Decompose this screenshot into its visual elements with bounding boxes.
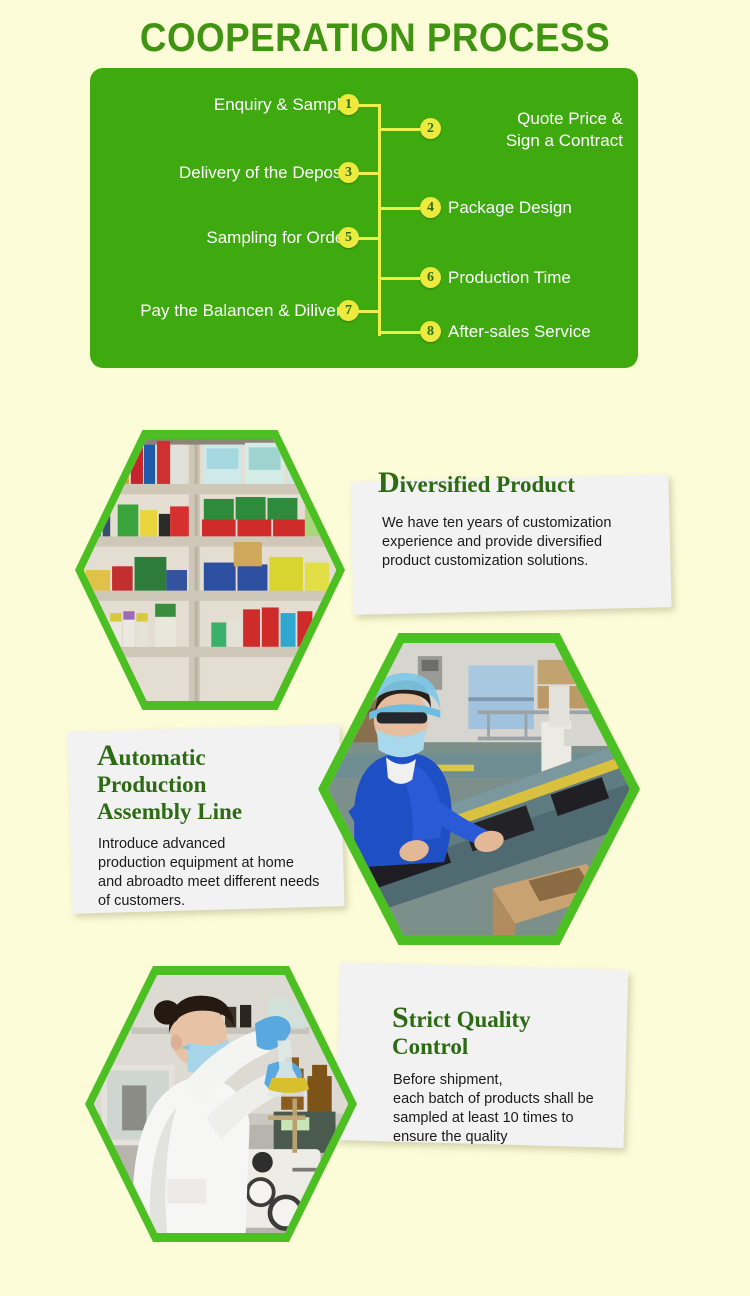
hexagon-frame-3 [85,966,357,1242]
hexagon-photo-3 [94,975,349,1233]
process-step-number-3: 3 [338,162,359,183]
feature-heading-1: Diversified Product [378,469,678,498]
process-arm-5 [358,237,381,240]
feature-image-3 [85,966,357,1242]
feature-heading-rest-3: trict Quality Control [392,1007,531,1059]
process-step-number-8: 8 [420,321,441,342]
process-connector-stem [378,104,381,336]
process-step-label-4: Package Design [448,197,648,219]
feature-heading-rest-1: iversified Product [400,472,575,497]
process-arm-7 [358,310,381,313]
process-step-number-6: 6 [420,267,441,288]
feature-heading-3: Strict Quality Control [392,1004,662,1060]
feature-image-2 [318,633,640,945]
process-step-label-8: After-sales Service [448,321,648,343]
hexagon-frame-2 [318,633,640,945]
process-step-label-1: Enquiry & Sample [130,94,350,116]
process-step-label-7: Pay the Balancen & Dilivery [80,300,350,322]
process-arm-6 [381,277,420,280]
process-step-number-1: 1 [338,94,359,115]
process-step-label-6: Production Time [448,267,648,289]
process-step-label-5: Sampling for Order [100,227,350,249]
process-step-label-2: Quote Price & Sign a Contract [448,108,623,152]
feature-image-1 [75,430,345,710]
hexagon-frame-1 [75,430,345,710]
hexagon-photo-2 [328,643,629,935]
feature-body-1: We have ten years of customization exper… [382,514,682,571]
process-step-number-2: 2 [420,118,441,139]
process-arm-1 [358,104,381,107]
hexagon-photo-1 [84,439,337,701]
page-title: COOPERATION PROCESS [30,16,720,61]
feature-heading-capital-1: D [378,466,400,499]
feature-heading-capital-2: A [97,739,119,772]
process-arm-3 [358,172,381,175]
cooperation-process-box: Enquiry & Sample 1 2 Quote Price & Sign … [90,68,638,368]
process-step-number-5: 5 [338,227,359,248]
process-arm-2 [381,128,420,131]
process-step-label-3: Delivery of the Deposit [100,162,350,184]
feature-body-3: Before shipment, each batch of products … [393,1071,663,1147]
process-step-number-4: 4 [420,197,441,218]
process-arm-4 [381,207,420,210]
feature-heading-rest-2: utomatic Production Assembly Line [97,745,242,824]
process-step-number-7: 7 [338,300,359,321]
feature-heading-capital-3: S [392,1001,409,1034]
process-arm-8 [381,331,420,334]
